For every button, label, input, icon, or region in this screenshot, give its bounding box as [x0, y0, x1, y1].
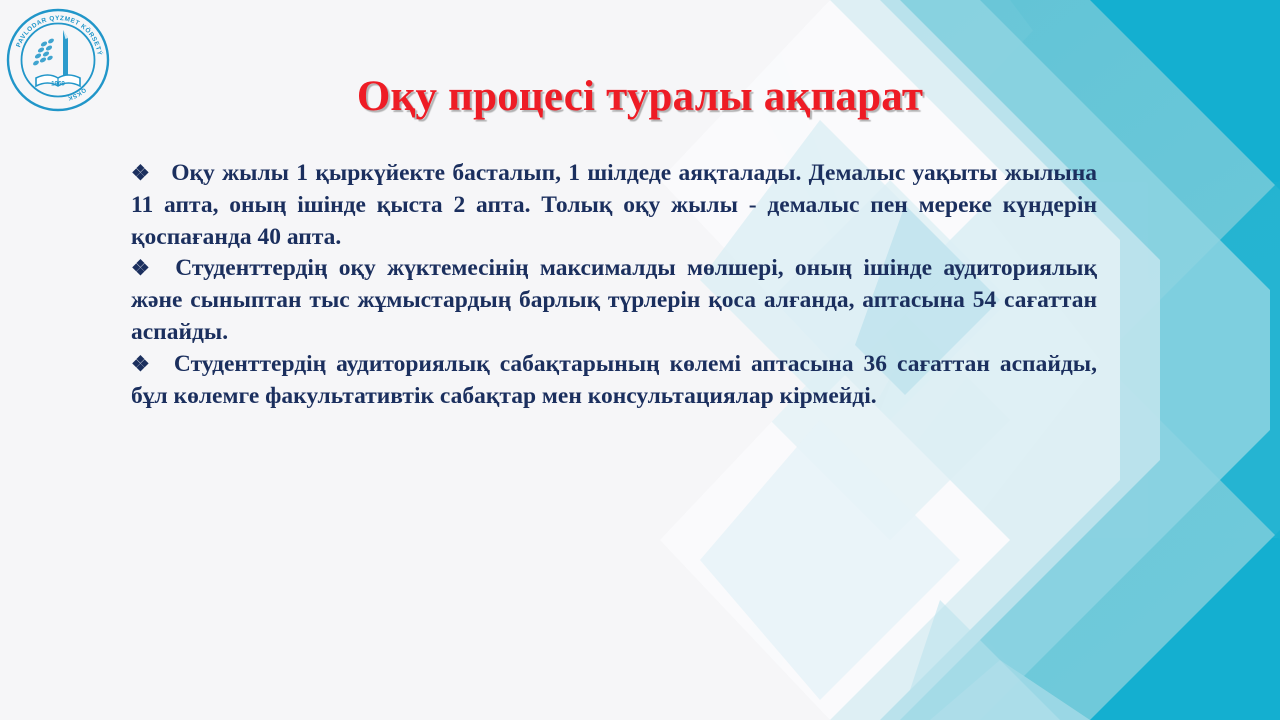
college-logo: PAVLODAR QYZMET KÖRSETÝ SALASY KOLLEDJI …: [6, 8, 110, 112]
bullet-text-1: Оқу жылы 1 қыркүйекте басталып, 1 шілдед…: [131, 160, 1097, 250]
slide-title: Оқу процесі туралы ақпарат: [0, 72, 1280, 122]
bullet-text-2: Студенттердің оқу жүктемесінің максималд…: [131, 255, 1097, 345]
logo-wheat-icon: [32, 38, 55, 67]
logo-ring-text-top: PAVLODAR QYZMET KÖRSETÝ SALASY KOLLEDJI: [6, 8, 105, 58]
logo-year: 1969: [51, 81, 65, 88]
slide-title-text: Оқу процесі туралы ақпарат: [357, 72, 923, 122]
presentation-slide: PAVLODAR QYZMET KÖRSETÝ SALASY KOLLEDJI …: [0, 0, 1280, 720]
bullet-text-3: Студенттердің аудиториялық сабақтарының …: [131, 351, 1097, 409]
logo-outer-ring: [8, 10, 108, 110]
bullet-paragraph-3: ❖Студенттердің аудиториялық сабақтарының…: [131, 349, 1097, 413]
diamond-bullet-icon: ❖: [131, 352, 154, 376]
bullet-paragraph-1: ❖Оқу жылы 1 қыркүйекте басталып, 1 шілде…: [131, 158, 1097, 253]
diamond-bullet-icon: ❖: [131, 161, 151, 185]
slide-body: ❖Оқу жылы 1 қыркүйекте басталып, 1 шілде…: [131, 158, 1097, 412]
logo-ring-text-bottom: QKSK: [66, 86, 86, 101]
diamond-bullet-icon: ❖: [131, 256, 155, 280]
bullet-paragraph-2: ❖Студенттердің оқу жүктемесінің максимал…: [131, 253, 1097, 348]
